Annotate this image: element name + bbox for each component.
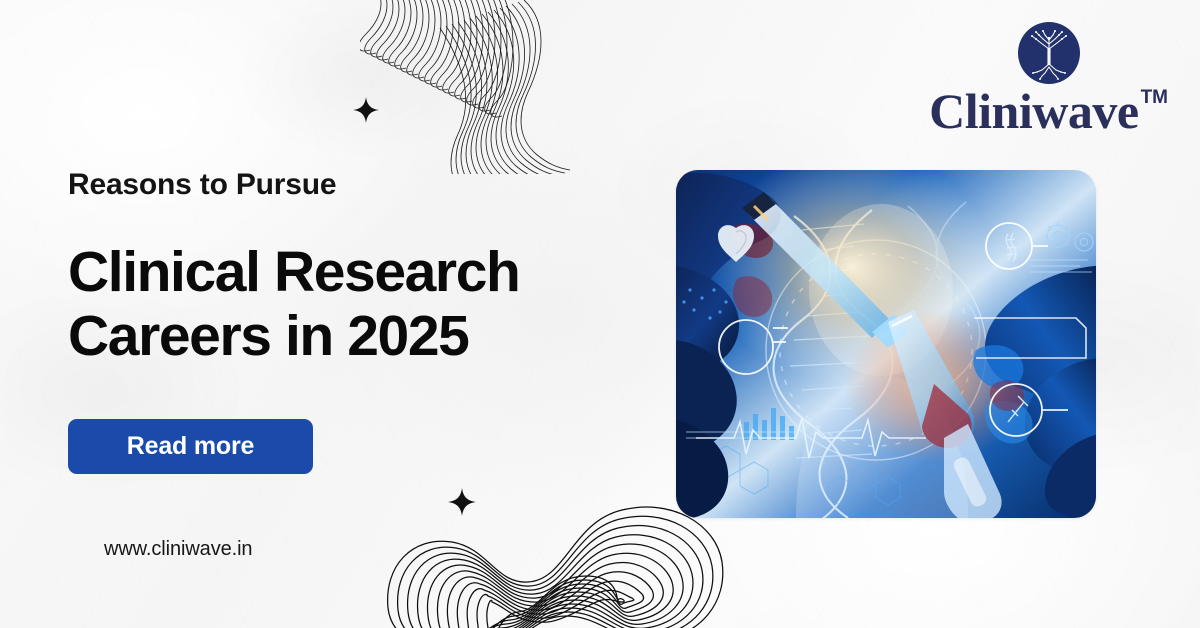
four-point-star-icon bbox=[447, 487, 477, 517]
clinical-lab-photo bbox=[676, 170, 1096, 518]
brand-wordmark: Cliniwave bbox=[929, 86, 1138, 136]
tree-circuit-logo-icon bbox=[1018, 22, 1080, 84]
headline-line-1: Clinical Research bbox=[68, 241, 628, 305]
read-more-button[interactable]: Read more bbox=[68, 419, 313, 474]
trademark-symbol: TM bbox=[1141, 88, 1168, 107]
eyebrow-text: Reasons to Pursue bbox=[68, 168, 628, 201]
headline-line-2: Careers in 2025 bbox=[68, 305, 628, 369]
copy-block: Reasons to Pursue Clinical Research Care… bbox=[68, 168, 628, 369]
website-url: www.cliniwave.in bbox=[104, 538, 252, 561]
promo-banner: Cliniwave TM Reasons to Pursue Clinical … bbox=[0, 0, 1200, 628]
page-title: Clinical Research Careers in 2025 bbox=[68, 241, 628, 369]
four-point-star-icon bbox=[352, 96, 380, 124]
brand-logo[interactable]: Cliniwave TM bbox=[929, 22, 1168, 136]
